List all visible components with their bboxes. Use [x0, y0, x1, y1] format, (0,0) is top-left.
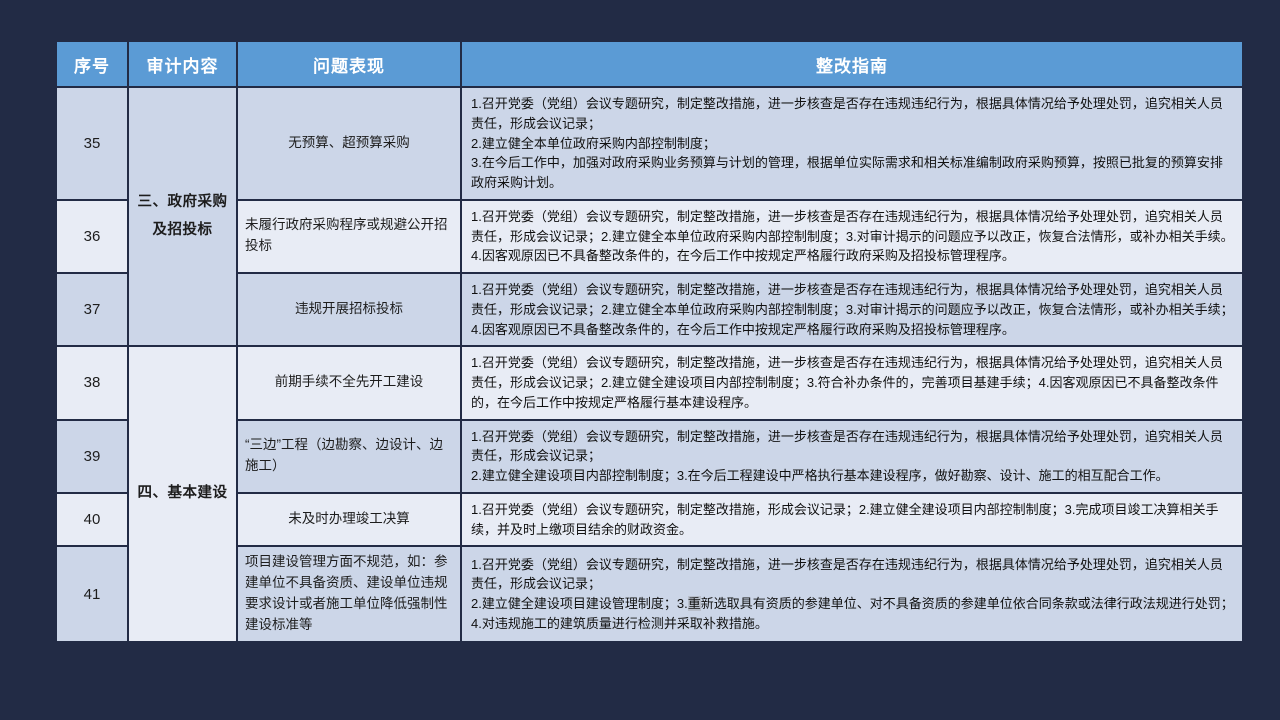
row-seq: 38	[57, 347, 127, 418]
highlighted-character: 重	[688, 596, 701, 611]
row-problem: 项目建设管理方面不规范，如：参建单位不具备资质、建设单位违规要求设计或者施工单位…	[238, 547, 460, 641]
guide-line: 3.在今后工作中，加强对政府采购业务预算与计划的管理，根据单位实际需求和相关标准…	[471, 153, 1234, 193]
row-seq: 35	[57, 88, 127, 199]
row-problem: 未履行政府采购程序或规避公开招投标	[238, 201, 460, 272]
row-guide: 1.召开党委（党组）会议专题研究，制定整改措施，进一步核查是否存在违规违纪行为，…	[462, 347, 1242, 418]
row-guide: 1.召开党委（党组）会议专题研究，制定整改措施，进一步核查是否存在违规违纪行为，…	[462, 274, 1242, 345]
audit-table-container: 序号 审计内容 问题表现 整改指南 35 三、政府采购及招投标 无预算、超预算采…	[55, 40, 1236, 643]
guide-line: 1.召开党委（党组）会议专题研究，制定整改措施，进一步核查是否存在违规违纪行为，…	[471, 555, 1234, 595]
guide-line-highlighted: 2.建立健全建设项目建设管理制度；3.重新选取具有资质的参建单位、对不具备资质的…	[471, 594, 1234, 614]
row-problem: 未及时办理竣工决算	[238, 494, 460, 546]
column-header-guide: 整改指南	[462, 42, 1242, 86]
row-guide: 1.召开党委（党组）会议专题研究，制定整改措施，进一步核查是否存在违规违纪行为，…	[462, 547, 1242, 641]
table-row: 38 四、基本建设 前期手续不全先开工建设 1.召开党委（党组）会议专题研究，制…	[57, 347, 1242, 418]
guide-line: 1.召开党委（党组）会议专题研究，制定整改措施，进一步核查是否存在违规违纪行为，…	[471, 353, 1234, 412]
row-guide: 1.召开党委（党组）会议专题研究，制定整改措施，进一步核查是否存在违规违纪行为，…	[462, 88, 1242, 199]
row-seq: 37	[57, 274, 127, 345]
guide-line: 1.召开党委（党组）会议专题研究，制定整改措施，进一步核查是否存在违规违纪行为，…	[471, 207, 1234, 266]
row-guide: 1.召开党委（党组）会议专题研究，制定整改措施，形成会议记录；2.建立健全建设项…	[462, 494, 1242, 546]
table-header-row: 序号 审计内容 问题表现 整改指南	[57, 42, 1242, 86]
column-header-seq: 序号	[57, 42, 127, 86]
row-seq: 36	[57, 201, 127, 272]
row-problem: 无预算、超预算采购	[238, 88, 460, 199]
row-seq: 39	[57, 421, 127, 492]
row-guide: 1.召开党委（党组）会议专题研究，制定整改措施，进一步核查是否存在违规违纪行为，…	[462, 421, 1242, 492]
guide-line: 1.召开党委（党组）会议专题研究，制定整改措施，进一步核查是否存在违规违纪行为，…	[471, 280, 1234, 339]
row-problem: 违规开展招标投标	[238, 274, 460, 345]
row-seq: 40	[57, 494, 127, 546]
table-body: 35 三、政府采购及招投标 无预算、超预算采购 1.召开党委（党组）会议专题研究…	[57, 88, 1242, 641]
column-header-audit-content: 审计内容	[129, 42, 236, 86]
column-header-problem: 问题表现	[238, 42, 460, 86]
table-header: 序号 审计内容 问题表现 整改指南	[57, 42, 1242, 86]
guide-line: 2.建立健全本单位政府采购内部控制制度；	[471, 134, 1234, 154]
guide-line: 1.召开党委（党组）会议专题研究，制定整改措施，进一步核查是否存在违规违纪行为，…	[471, 94, 1234, 134]
row-problem: 前期手续不全先开工建设	[238, 347, 460, 418]
row-guide: 1.召开党委（党组）会议专题研究，制定整改措施，进一步核查是否存在违规违纪行为，…	[462, 201, 1242, 272]
category-cell-capital-construction: 四、基本建设	[129, 347, 236, 641]
slide-canvas: 序号 审计内容 问题表现 整改指南 35 三、政府采购及招投标 无预算、超预算采…	[0, 0, 1280, 720]
row-seq: 41	[57, 547, 127, 641]
category-cell-government-procurement: 三、政府采购及招投标	[129, 88, 236, 345]
row-problem: “三边”工程（边勘察、边设计、边施工）	[238, 421, 460, 492]
guide-line: 4.对违规施工的建筑质量进行检测并采取补救措施。	[471, 614, 1234, 634]
guide-line: 1.召开党委（党组）会议专题研究，制定整改措施，形成会议记录；2.建立健全建设项…	[471, 500, 1234, 540]
guide-line: 1.召开党委（党组）会议专题研究，制定整改措施，进一步核查是否存在违规违纪行为，…	[471, 427, 1234, 467]
table-row: 35 三、政府采购及招投标 无预算、超预算采购 1.召开党委（党组）会议专题研究…	[57, 88, 1242, 199]
guide-line: 2.建立健全建设项目内部控制制度；3.在今后工程建设中严格执行基本建设程序，做好…	[471, 466, 1234, 486]
audit-remediation-table: 序号 审计内容 问题表现 整改指南 35 三、政府采购及招投标 无预算、超预算采…	[55, 40, 1244, 643]
